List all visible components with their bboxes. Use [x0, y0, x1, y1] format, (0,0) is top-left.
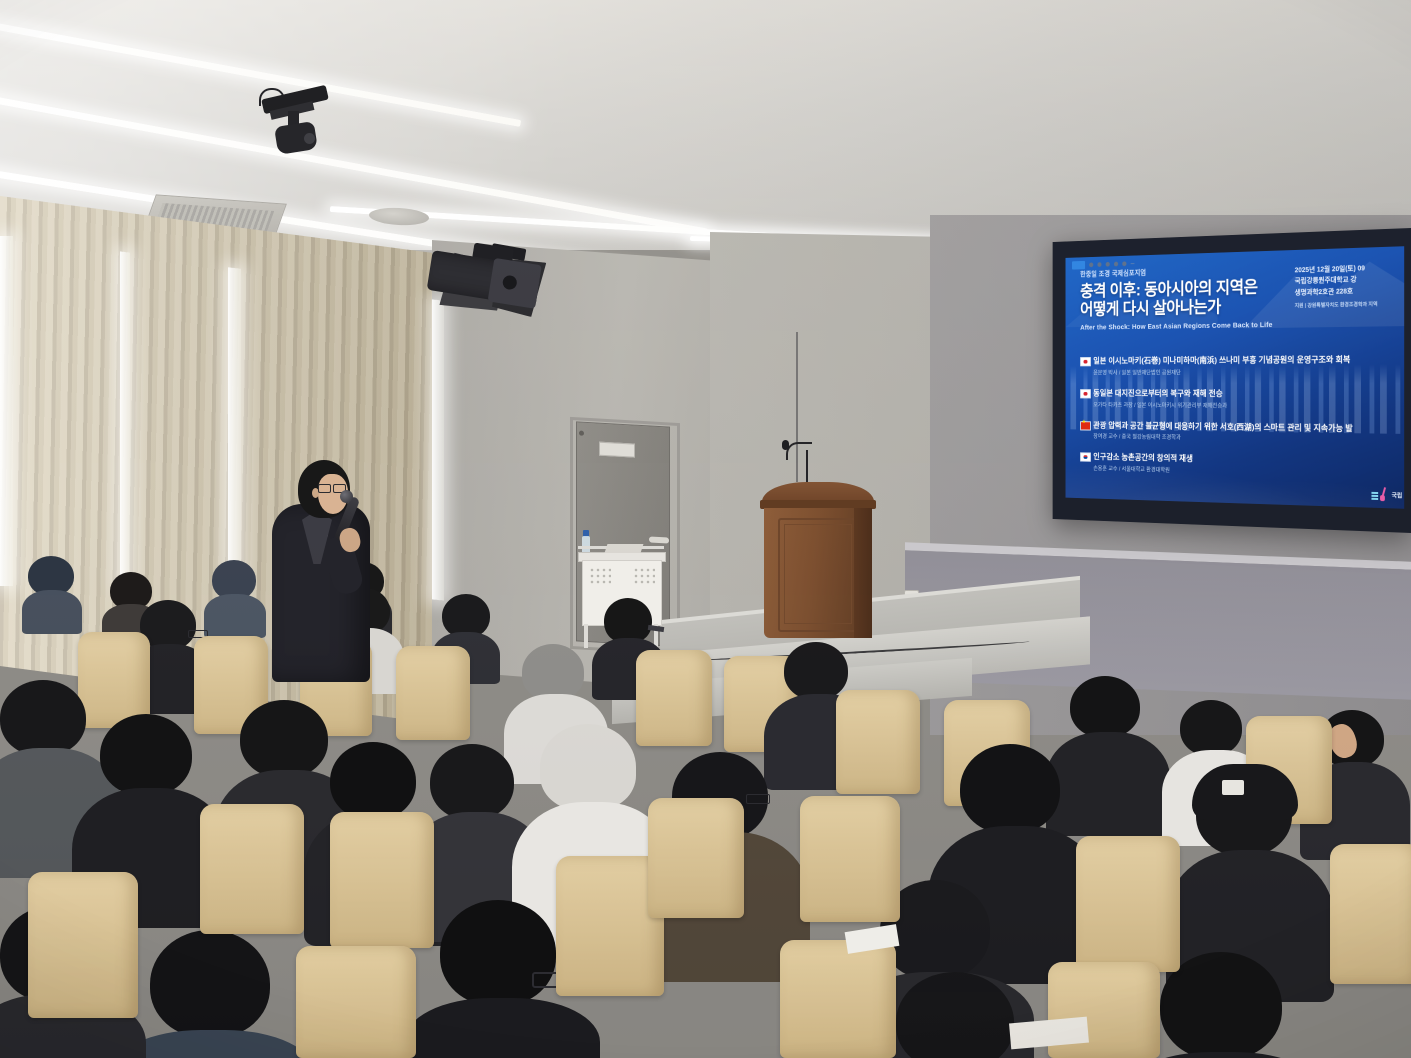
session-item: 일본 이시노마키(石巻) 미나미하마(南浜) 쓰나미 부흥 기념공원의 운영구조… [1080, 354, 1404, 376]
room-plaque [599, 442, 635, 458]
session-list: 일본 이시노마키(石巻) 미나미하마(南浜) 쓰나미 부흥 기념공원의 운영구조… [1080, 354, 1404, 493]
session-item: 인구감소 농촌공간의 창의적 재생 손용훈 교수 / 서울대학교 환경대학원 [1080, 452, 1404, 480]
auditorium-seat[interactable] [780, 940, 896, 1058]
auditorium-seat[interactable] [836, 690, 920, 794]
auditorium-seat[interactable] [1076, 836, 1180, 972]
session-speaker: 장여경 교수 / 중국 절강농림대학 조경학과 [1093, 432, 1404, 446]
korea-flag-icon [1080, 453, 1091, 462]
laptop [605, 544, 644, 553]
standing-questioner [266, 452, 386, 682]
japan-flag-icon [1080, 389, 1091, 398]
session-title: 일본 이시노마키(石巻) 미나미하마(南浜) 쓰나미 부흥 기념공원의 운영구조… [1093, 354, 1404, 366]
wall-light-strip [228, 267, 241, 599]
auditorium-seat[interactable] [28, 872, 138, 1018]
auditorium-seat[interactable] [200, 804, 304, 934]
china-flag-icon [1080, 421, 1091, 430]
auditorium-seat[interactable] [396, 646, 470, 740]
presentation-slide: – 한중일 조경 국제심포지엄 충격 이후: 동아시아의 지역은 어떻게 다시 … [1066, 246, 1405, 509]
wall-light-strip [432, 299, 444, 600]
wall-light-strip [0, 236, 13, 586]
session-title: 동일본 대지진으로부터의 복구와 재해 전승 [1093, 388, 1404, 399]
lecture-hall-photo: – 한중일 조경 국제심포지엄 충격 이후: 동아시아의 지역은 어떻게 다시 … [0, 0, 1411, 1058]
slide-meta-block: 2025년 12월 20일(토) 09 국립강릉원주대학교 강 생명과학2호관 … [1295, 262, 1404, 310]
wall-light-strip [120, 251, 130, 588]
auditorium-seat[interactable] [330, 812, 434, 948]
auditorium-seat[interactable] [800, 796, 900, 922]
japan-flag-icon [1080, 357, 1091, 366]
gooseneck-microphone-icon [786, 442, 812, 460]
logo-text: 국립 [1392, 490, 1403, 499]
auditorium-seat[interactable] [1330, 844, 1411, 984]
session-speaker: 오가타 타카츠 과장 / 일본 이시노마키시 위기관리부 재해전승과 [1093, 400, 1404, 411]
podium [762, 482, 874, 640]
session-item: 동일본 대지진으로부터의 복구와 재해 전승 오가타 타카츠 과장 / 일본 이… [1080, 388, 1404, 411]
slide-subtitle-english: After the Shock: How East Asian Regions … [1080, 318, 1394, 331]
auditorium-seat[interactable] [296, 946, 416, 1058]
eyeglasses-icon [746, 794, 770, 804]
baseball-cap-icon [1192, 764, 1298, 820]
projection-screen: – 한중일 조경 국제심포지엄 충격 이후: 동아시아의 지역은 어떻게 다시 … [1053, 228, 1411, 533]
slide-venue-line2: 생명과학2호관 228호 [1295, 285, 1404, 299]
session-speaker: 윤문영 박사 / 일본 일반재단법인 공원재단 [1093, 367, 1404, 376]
auditorium-seat[interactable] [648, 798, 744, 918]
cap-logo-patch [1222, 780, 1244, 795]
university-logo: 국립 [1375, 487, 1402, 503]
track-spotlight-icon [262, 86, 330, 158]
session-item: 관광 압력과 공간 불균형에 대응하기 위한 서호(西湖)의 스마트 관리 및 … [1080, 420, 1404, 445]
auditorium-seat[interactable] [636, 650, 712, 746]
